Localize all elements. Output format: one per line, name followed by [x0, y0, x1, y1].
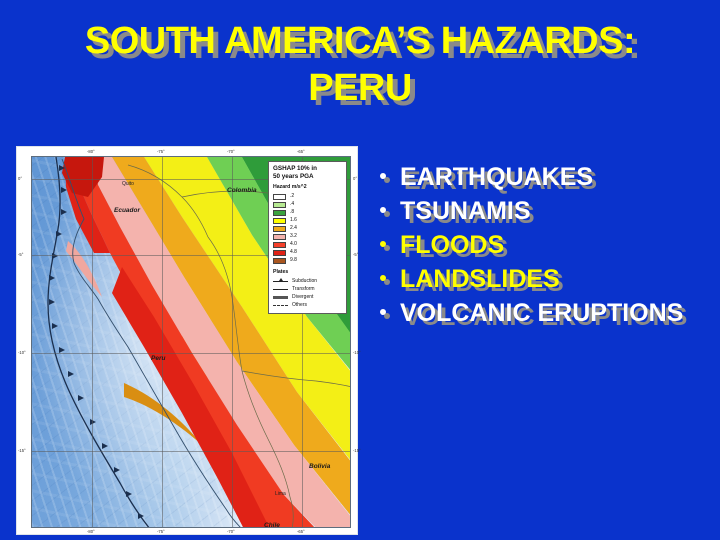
country-label-chile: Chile [264, 522, 280, 528]
lat-tick: -5° [18, 252, 23, 257]
bullet-dot-icon [380, 207, 386, 213]
legend-plates-heading: Plates [273, 269, 342, 276]
legend-title: GSHAP 10% in 50 years PGA [273, 165, 342, 180]
legend-hazard-heading: Hazard m/s^2 [273, 184, 342, 191]
list-item: VOLCANIC ERUPTIONS [376, 298, 706, 329]
lon-tick: -80° [87, 529, 95, 534]
lon-tick: -75° [157, 529, 165, 534]
graticule-line [32, 353, 350, 354]
legend-plate-row: Transform [273, 285, 342, 293]
legend-row: .4 [273, 201, 342, 209]
legend-value: 1.6 [290, 217, 297, 223]
map-legend: GSHAP 10% in 50 years PGA Hazard m/s^2 .… [268, 161, 347, 314]
list-item: EARTHQUAKES [376, 162, 706, 193]
lon-tick: -70° [227, 529, 235, 534]
legend-swatch [273, 226, 286, 232]
graticule-line [162, 157, 163, 527]
list-item: FLOODS [376, 230, 706, 261]
legend-row: 4.0 [273, 241, 342, 249]
list-item-label: VOLCANIC ERUPTIONS [400, 299, 683, 327]
list-item-label: EARTHQUAKES [400, 163, 593, 191]
lat-tick: -15° [353, 448, 361, 453]
legend-swatch [273, 234, 286, 240]
legend-value: .2 [290, 193, 294, 199]
slide-canvas: SOUTH AMERICA’S HAZARDS: PERU [0, 0, 720, 540]
transform-line-icon [273, 286, 288, 292]
lat-tick: -15° [18, 448, 26, 453]
legend-plate-row: Others [273, 301, 342, 309]
country-label-peru: Peru [151, 355, 165, 362]
list-item: LANDSLIDES [376, 264, 706, 295]
legend-value: 3.2 [290, 233, 297, 239]
legend-row: 4.8 [273, 249, 342, 257]
lon-tick: -70° [227, 149, 235, 154]
lat-tick: -10° [353, 350, 361, 355]
hazard-map-figure: Ecuador Colombia Brasil Peru Bolivia Chi… [16, 146, 358, 535]
legend-swatch [273, 210, 286, 216]
lon-tick: -80° [87, 149, 95, 154]
country-label-ecuador: Ecuador [114, 207, 140, 214]
legend-swatch [273, 242, 286, 248]
legend-row: .2 [273, 193, 342, 201]
city-label-lima: Lima [275, 491, 286, 497]
bullet-dot-icon [380, 241, 386, 247]
graticule-line [92, 157, 93, 527]
lat-tick: -5° [353, 252, 358, 257]
country-label-bolivia: Bolivia [309, 463, 330, 470]
others-line-icon [273, 302, 288, 308]
subduction-line-icon [273, 278, 288, 284]
legend-value: 4.0 [290, 241, 297, 247]
legend-row: 2.4 [273, 225, 342, 233]
bullet-dot-icon [380, 173, 386, 179]
lon-tick: -75° [157, 149, 165, 154]
legend-row: 1.6 [273, 217, 342, 225]
legend-row: .8 [273, 209, 342, 217]
list-item-label: FLOODS [400, 231, 504, 259]
country-label-colombia: Colombia [227, 187, 257, 194]
lat-tick: 0° [18, 176, 22, 181]
lat-tick: 0° [353, 176, 357, 181]
list-item-label: LANDSLIDES [400, 265, 560, 293]
graticule-line [232, 157, 233, 527]
legend-plate-row: Subduction [273, 277, 342, 285]
page-title: SOUTH AMERICA’S HAZARDS: PERU [0, 18, 720, 112]
list-item: TSUNAMIS [376, 196, 706, 227]
legend-row: 9.8 [273, 257, 342, 265]
legend-swatch [273, 258, 286, 264]
legend-swatch [273, 250, 286, 256]
legend-plate-label: Subduction [292, 278, 317, 284]
list-item-label: TSUNAMIS [400, 197, 531, 225]
bullet-dot-icon [380, 309, 386, 315]
legend-swatch [273, 218, 286, 224]
graticule-line [32, 451, 350, 452]
hazards-bullet-list: EARTHQUAKES TSUNAMIS FLOODS LANDSLIDES V… [376, 162, 706, 332]
lat-tick: -10° [18, 350, 26, 355]
legend-row: 3.2 [273, 233, 342, 241]
legend-value: 2.4 [290, 225, 297, 231]
legend-value: 4.8 [290, 249, 297, 255]
legend-value: .8 [290, 209, 294, 215]
legend-value: 9.8 [290, 257, 297, 263]
legend-swatch [273, 194, 286, 200]
hazard-map-plot: Ecuador Colombia Brasil Peru Bolivia Chi… [31, 156, 351, 528]
bullet-dot-icon [380, 275, 386, 281]
legend-swatch [273, 202, 286, 208]
legend-value: .4 [290, 201, 294, 207]
city-label-quito: Quito [122, 181, 134, 187]
legend-plate-label: Divergent [292, 294, 313, 300]
legend-plate-label: Transform [292, 286, 315, 292]
lon-tick: -65° [297, 529, 305, 534]
legend-plate-row: Divergent [273, 293, 342, 301]
legend-plate-label: Others [292, 302, 307, 308]
lon-tick: -65° [297, 149, 305, 154]
divergent-line-icon [273, 294, 288, 300]
